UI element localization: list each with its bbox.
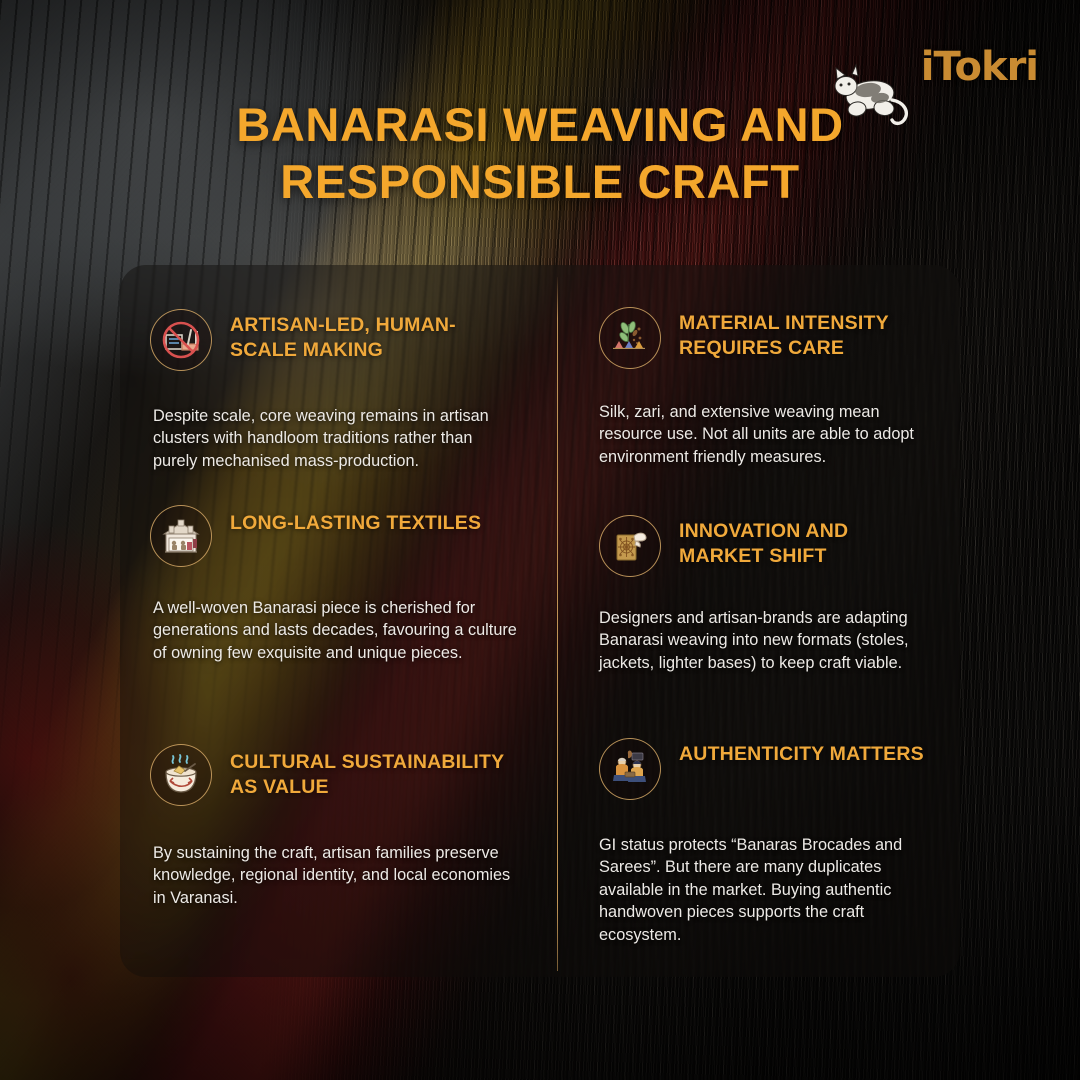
card-artisan-led: ARTISAN-LED, HUMAN-SCALE MAKING Despite … xyxy=(120,265,557,479)
brand-wordmark: iTokri xyxy=(921,44,1038,90)
no-factory-icon xyxy=(150,309,212,371)
card-title: ARTISAN-LED, HUMAN-SCALE MAKING xyxy=(230,307,517,362)
hand-holding-fabric-swatch-icon xyxy=(599,515,661,577)
card-material-intensity: MATERIAL INTENSITY REQUIRES CARE Silk, z… xyxy=(557,265,960,479)
card-header: ARTISAN-LED, HUMAN-SCALE MAKING xyxy=(150,307,517,371)
card-title: MATERIAL INTENSITY REQUIRES CARE xyxy=(679,307,936,360)
artisan-shop-icon xyxy=(150,505,212,567)
card-innovation-market-shift: INNOVATION AND MARKET SHIFT Designers an… xyxy=(557,479,960,694)
card-title: CULTURAL SUSTAINABILITY AS VALUE xyxy=(230,744,517,799)
card-header: CULTURAL SUSTAINABILITY AS VALUE xyxy=(150,744,517,806)
card-body: By sustaining the craft, artisan familie… xyxy=(153,842,517,909)
content-panel: ARTISAN-LED, HUMAN-SCALE MAKING Despite … xyxy=(120,265,960,977)
page-title: BANARASI WEAVING AND RESPONSIBLE CRAFT xyxy=(0,96,1080,211)
card-title: AUTHENTICITY MATTERS xyxy=(679,738,924,767)
steaming-dye-pot-icon xyxy=(150,744,212,806)
dye-leaves-pigments-icon xyxy=(599,307,661,369)
card-header: AUTHENTICITY MATTERS xyxy=(599,738,936,800)
card-header: MATERIAL INTENSITY REQUIRES CARE xyxy=(599,307,936,369)
two-seated-artisans-icon xyxy=(599,738,661,800)
card-body: A well-woven Banarasi piece is cherished… xyxy=(153,597,517,664)
card-body: Silk, zari, and extensive weaving mean r… xyxy=(599,401,936,468)
header: iTokri BANARASI WEAVING AND RESPONSIBLE … xyxy=(0,0,1080,262)
infographic-canvas: iTokri BANARASI WEAVING AND RESPONSIBLE … xyxy=(0,0,1080,1080)
cards-grid: ARTISAN-LED, HUMAN-SCALE MAKING Despite … xyxy=(120,265,960,977)
card-title: LONG-LASTING TEXTILES xyxy=(230,505,481,536)
card-authenticity-matters: AUTHENTICITY MATTERS GI status protects … xyxy=(557,694,960,977)
card-header: LONG-LASTING TEXTILES xyxy=(150,505,517,567)
card-body: GI status protects “Banaras Brocades and… xyxy=(599,834,936,946)
card-body: Despite scale, core weaving remains in a… xyxy=(153,405,517,472)
card-header: INNOVATION AND MARKET SHIFT xyxy=(599,515,936,577)
card-title: INNOVATION AND MARKET SHIFT xyxy=(679,515,936,568)
card-cultural-sustainability: CULTURAL SUSTAINABILITY AS VALUE By sust… xyxy=(120,694,557,977)
card-long-lasting-textiles: LONG-LASTING TEXTILES A well-woven Banar… xyxy=(120,479,557,694)
card-body: Designers and artisan-brands are adaptin… xyxy=(599,607,936,674)
